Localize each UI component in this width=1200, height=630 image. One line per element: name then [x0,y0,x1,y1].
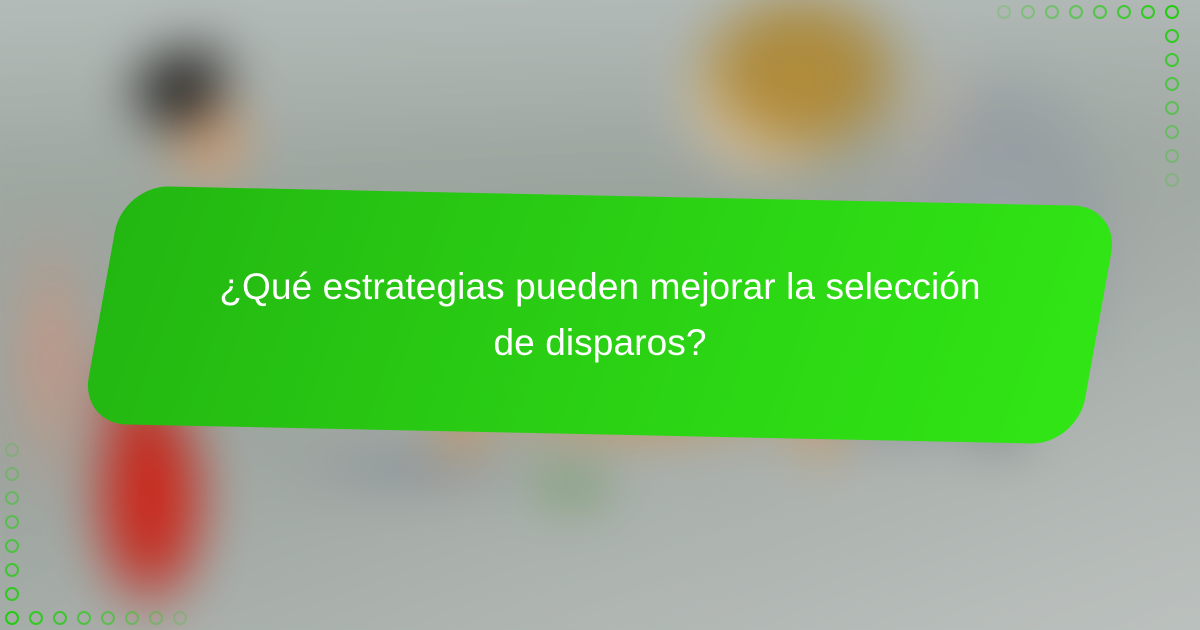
decorative-dot [173,611,187,625]
decorative-dot [53,611,67,625]
decorative-dot [5,467,19,481]
decorative-dot [5,443,19,457]
decorative-dots-top-right [987,5,1179,197]
decorative-dot [1165,101,1179,115]
decorative-dot [997,5,1011,19]
decorative-dot [125,611,139,625]
decorative-dot [77,611,91,625]
decorative-dot [5,611,19,625]
decorative-dot [5,539,19,553]
decorative-dot [1141,5,1155,19]
decorative-dot [1165,173,1179,187]
decorative-dot [5,491,19,505]
question-card-content: ¿Qué estrategias pueden mejorar la selec… [100,196,1100,434]
decorative-dot [1165,149,1179,163]
screenshot-canvas: ¿Qué estrategias pueden mejorar la selec… [0,0,1200,630]
decorative-dot [1093,5,1107,19]
decorative-dot [1069,5,1083,19]
decorative-dot [1021,5,1035,19]
decorative-dot [1165,29,1179,43]
decorative-dot [5,515,19,529]
decorative-dot [1045,5,1059,19]
question-text: ¿Qué estrategias pueden mejorar la selec… [200,259,1000,371]
question-card: ¿Qué estrategias pueden mejorar la selec… [100,196,1100,436]
decorative-dots-bottom-left [5,433,197,625]
decorative-dot [101,611,115,625]
decorative-dot [1117,5,1131,19]
decorative-dot [1165,125,1179,139]
decorative-dot [1165,53,1179,67]
decorative-dot [5,563,19,577]
decorative-dot [5,587,19,601]
decorative-dot [1165,5,1179,19]
decorative-dot [149,611,163,625]
decorative-dot [1165,77,1179,91]
decorative-dot [29,611,43,625]
